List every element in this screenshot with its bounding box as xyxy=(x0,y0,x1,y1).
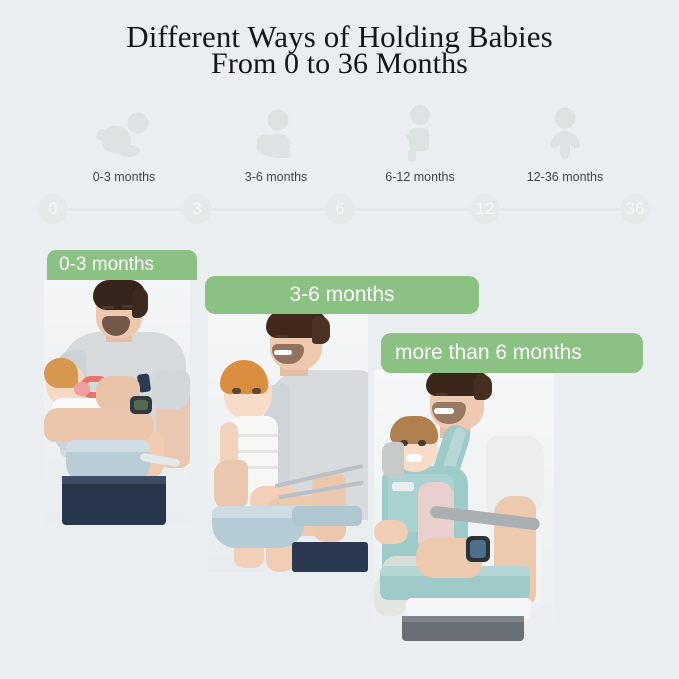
timeline-label-6-12: 6-12 months xyxy=(350,170,490,184)
timeline-marker-0: 0 xyxy=(38,194,68,224)
timeline-marker-6: 6 xyxy=(325,194,355,224)
timeline-stage-6-12: 6-12 months xyxy=(350,100,490,184)
timeline-label-12-36: 12-36 months xyxy=(495,170,635,184)
timeline-label-3-6: 3-6 months xyxy=(206,170,346,184)
page-title: Different Ways of Holding Babies From 0 … xyxy=(0,22,679,79)
timeline-marker-3: 3 xyxy=(182,194,212,224)
toddler-standing-icon xyxy=(495,100,635,162)
badge-3-6-months: 3-6 months xyxy=(205,276,479,314)
timeline-stage-12-36: 12-36 months xyxy=(495,100,635,184)
timeline-stage-3-6: 3-6 months xyxy=(206,100,346,184)
photo-more-than-6-months xyxy=(374,370,554,641)
baby-crawling-icon xyxy=(350,100,490,162)
baby-sitting-icon xyxy=(206,100,346,162)
timeline-marker-36: 36 xyxy=(620,194,650,224)
photo-3-6-months xyxy=(208,310,368,572)
badge-more-than-6-months: more than 6 months xyxy=(381,333,643,373)
infographic-root: Different Ways of Holding Babies From 0 … xyxy=(0,0,679,679)
baby-lying-icon xyxy=(54,100,194,162)
photo-0-3-months xyxy=(44,280,190,525)
title-line-2: From 0 to 36 Months xyxy=(0,49,679,78)
badge-0-3-months: 0-3 months xyxy=(47,250,197,280)
timeline-stage-0-3: 0-3 months xyxy=(54,100,194,184)
timeline-label-0-3: 0-3 months xyxy=(54,170,194,184)
timeline-marker-12: 12 xyxy=(470,194,500,224)
